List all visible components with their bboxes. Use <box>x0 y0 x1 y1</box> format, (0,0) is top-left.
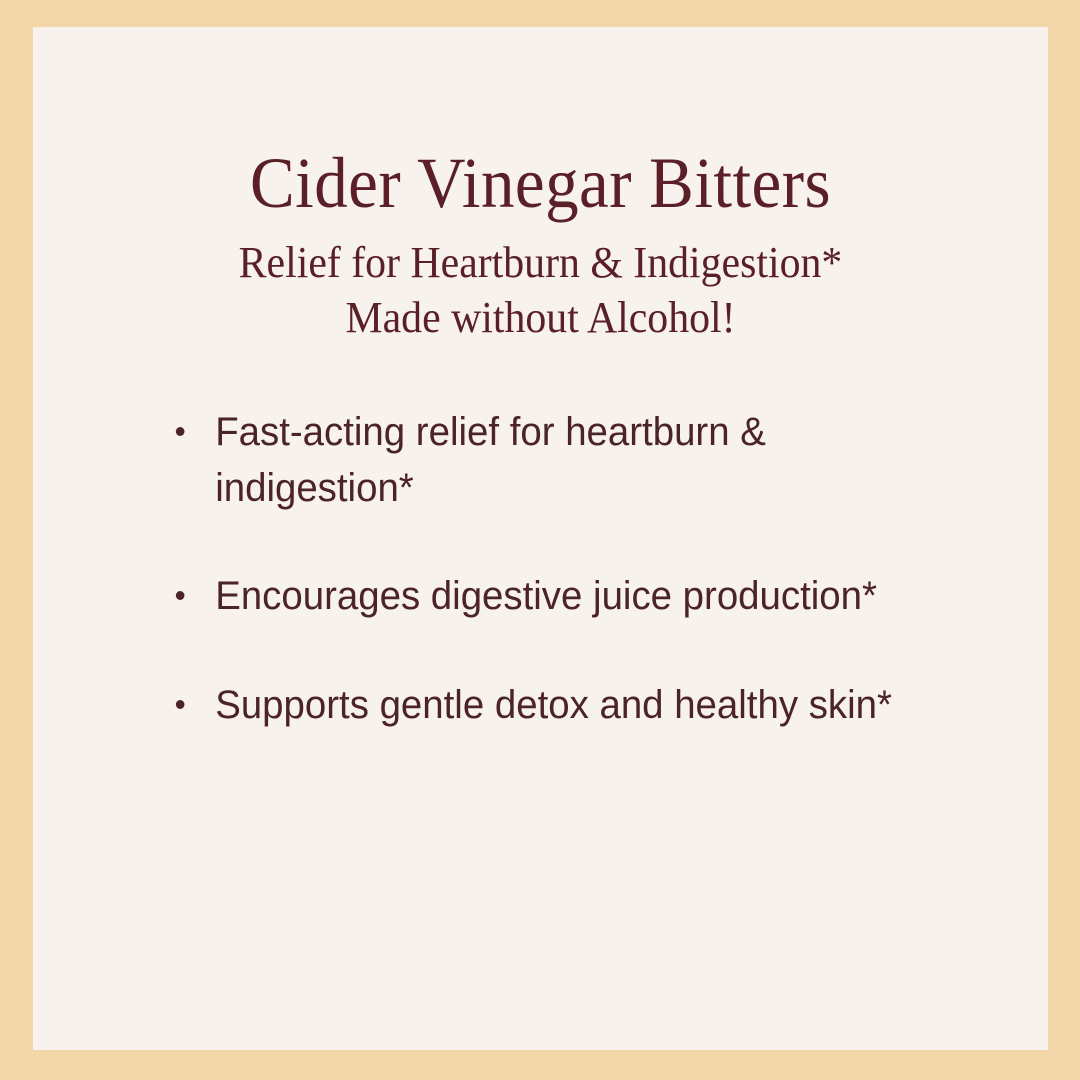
bullet-dot-icon <box>176 427 185 436</box>
benefit-text: Supports gentle detox and healthy skin* <box>215 678 954 734</box>
benefit-text: Encourages digestive juice production* <box>215 569 954 625</box>
product-title: Cider Vinegar Bitters <box>69 147 1013 219</box>
content-card: Cider Vinegar Bitters Relief for Heartbu… <box>33 27 1048 1050</box>
subtitle-line-2: Made without Alcohol! <box>58 290 1022 345</box>
benefit-text: Fast-acting relief for heartburn & indig… <box>215 405 954 516</box>
heading-block: Cider Vinegar Bitters Relief for Heartbu… <box>33 147 1048 346</box>
list-item: Supports gentle detox and healthy skin* <box>148 678 954 734</box>
list-item: Fast-acting relief for heartburn & indig… <box>148 405 954 516</box>
benefits-list: Fast-acting relief for heartburn & indig… <box>148 405 988 733</box>
bullet-dot-icon <box>176 591 185 600</box>
product-subtitle: Relief for Heartburn & Indigestion* Made… <box>58 219 1022 346</box>
bullet-dot-icon <box>176 700 185 709</box>
product-infographic: Cider Vinegar Bitters Relief for Heartbu… <box>0 0 1080 1080</box>
subtitle-line-1: Relief for Heartburn & Indigestion* <box>58 235 1022 290</box>
list-item: Encourages digestive juice production* <box>148 569 954 625</box>
